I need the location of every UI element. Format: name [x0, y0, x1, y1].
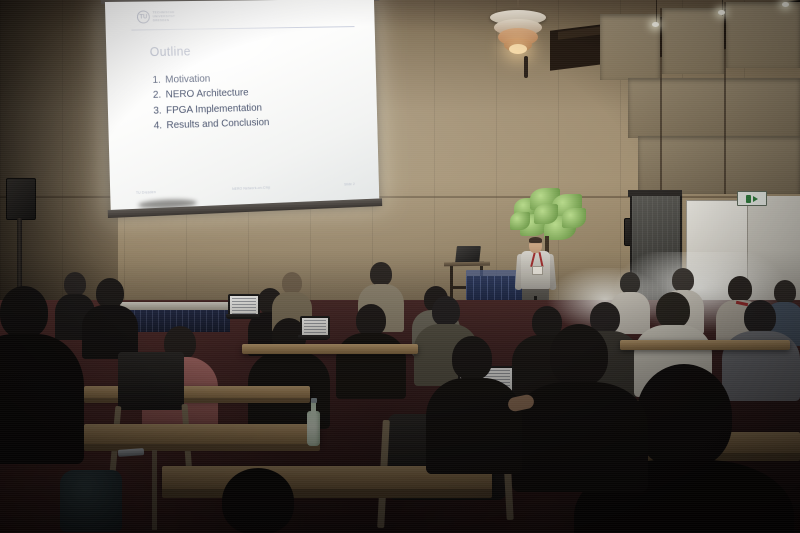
plant-leaf-cluster-7 — [562, 208, 586, 228]
tu-logo-wordmark: TECHNISCHE UNIVERSITAT DRESDEN — [153, 11, 176, 23]
list-label-2: NERO Architecture — [165, 88, 248, 101]
acoustic-baffle-1 — [600, 14, 660, 80]
desk-foreground-left — [84, 424, 320, 446]
head — [620, 272, 640, 294]
body — [0, 334, 84, 464]
front-table — [120, 302, 230, 310]
potted-ficus-plant — [510, 188, 590, 248]
ceiling-spotlight-2 — [718, 10, 725, 15]
slide-list-item-4: 4.Results and Conclusion — [154, 116, 270, 135]
desk-foreground-right-edge — [162, 489, 492, 498]
pa-speaker-left — [6, 178, 36, 220]
bottle-neck — [311, 402, 316, 414]
plant-leaf-cluster-6 — [534, 204, 558, 224]
head — [96, 278, 124, 308]
list-number-3: 3. — [153, 103, 166, 119]
slide-header-rule — [131, 26, 354, 30]
projected-slide: TU TECHNISCHE UNIVERSITAT DRESDEN Outlin… — [105, 0, 379, 214]
tu-dresden-logo: TU TECHNISCHE UNIVERSITAT DRESDEN — [137, 10, 175, 23]
slide-title: Outline — [150, 44, 191, 59]
list-number-1: 1. — [152, 73, 165, 89]
bottle-body — [307, 411, 320, 446]
head — [636, 364, 732, 468]
head — [728, 276, 752, 302]
laptop-screen-text-lines — [232, 298, 256, 314]
baffle-gap-2 — [724, 2, 726, 194]
body — [426, 378, 522, 474]
lamp-glow — [509, 44, 527, 54]
list-number-4: 4. — [154, 119, 167, 135]
baffle-gap-1 — [660, 8, 662, 194]
logo-line-3: DRESDEN — [153, 19, 175, 23]
head — [774, 280, 796, 304]
desk-row-far-right — [620, 340, 790, 350]
head — [432, 296, 460, 326]
ceiling-spotlight-1 — [652, 22, 659, 27]
desk-row-far — [242, 344, 418, 354]
desk-foreground-left-leg — [152, 450, 157, 530]
presenter-hair — [529, 237, 542, 243]
acoustic-baffle-5 — [638, 136, 800, 194]
bottle-cap — [311, 398, 317, 403]
list-label-1: Motivation — [165, 74, 210, 86]
head — [744, 300, 776, 334]
podium-laptop-screen — [455, 246, 481, 263]
backpack-on-floor — [60, 470, 122, 532]
head — [356, 304, 386, 336]
head — [282, 272, 302, 294]
artichoke-pendant-lamp — [487, 10, 549, 58]
exit-running-man-icon — [746, 195, 751, 203]
chair-back-foreground-1[interactable] — [118, 352, 184, 410]
head — [0, 286, 48, 338]
acoustic-baffle-2 — [662, 8, 724, 74]
list-label-3: FPGA Implementation — [166, 103, 262, 117]
ceiling-spotlight-3 — [782, 2, 789, 7]
head — [672, 268, 694, 292]
tu-logo-mark: TU — [137, 10, 150, 23]
slide-footer-right: Slide 2 — [344, 182, 355, 196]
list-label-4: Results and Conclusion — [166, 117, 269, 131]
slide-outline-list: 1.Motivation 2.NERO Architecture 3.FPGA … — [152, 70, 269, 134]
head — [550, 324, 608, 386]
head — [370, 262, 392, 286]
baffle-wire-1 — [656, 0, 657, 24]
head — [656, 292, 690, 328]
plant-leaf-cluster-8 — [510, 212, 530, 230]
lamp-lower-stem — [524, 56, 528, 78]
laptop-screen-text-lines — [304, 320, 326, 335]
acoustic-baffle-3 — [726, 2, 800, 68]
list-number-2: 2. — [153, 88, 166, 104]
head — [222, 468, 294, 533]
laptop-keyboard-base — [298, 335, 329, 340]
laptop-keyboard-base — [226, 314, 259, 319]
glass-water-bottle[interactable] — [307, 398, 320, 446]
acoustic-baffle-4 — [628, 78, 800, 138]
body — [336, 333, 406, 399]
head — [64, 272, 86, 296]
head — [452, 336, 492, 380]
exit-arrow-icon — [753, 196, 758, 202]
projection-screen: TU TECHNISCHE UNIVERSITAT DRESDEN Outlin… — [105, 0, 380, 224]
slide-footer-center: NERO Network-on-Chip — [232, 186, 271, 201]
exit-sign — [737, 191, 767, 206]
conference-hall-photo: TU TECHNISCHE UNIVERSITAT DRESDEN Outlin… — [0, 0, 800, 533]
body — [82, 305, 138, 359]
lectern-leg-left — [450, 266, 453, 300]
